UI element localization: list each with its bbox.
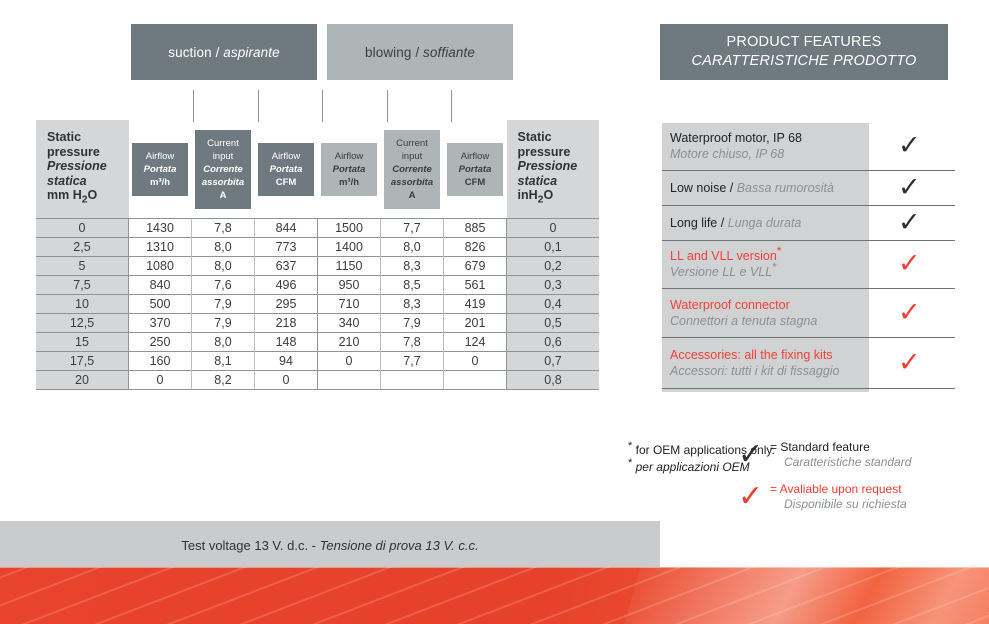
legend-oem-it: per applicazioni OEM [636,460,750,474]
table-cell-s-m3h: 0 [129,371,192,390]
hdr-line: Pressione [518,159,578,173]
col-header-suction-airflow-cfm: Airflow Portata CFM [255,120,318,219]
feature-label-it: Accessori: tutti i kit di fissaggio [670,364,840,378]
check-red-icon: ✓ [898,250,921,277]
table-cell-b-a: 7,7 [381,352,444,371]
tab-blowing-label-en: blowing / [365,45,419,60]
feature-star: * [777,244,782,258]
column-divider-tick [193,90,194,122]
table-body: 014307,884415007,788502,513108,077314008… [36,219,599,390]
check-red-icon: ✓ [898,299,921,326]
table-cell-s-cfm: 844 [255,219,318,238]
tab-suction-label: suction / aspirante [168,45,279,60]
table-cell-sp-in: 0,3 [507,276,600,295]
red-band-topline [0,567,989,568]
chip-line: Corrente [392,164,432,175]
chip-suction-airflow-cfm: Airflow Portata CFM [258,143,314,196]
table-cell-sp-in: 0,6 [507,333,600,352]
table-cell-s-m3h: 500 [129,295,192,314]
chip-line: input [213,151,234,162]
table-cell-b-m3h: 1400 [318,238,381,257]
test-voltage-text: Test voltage 13 V. d.c. - Tensione di pr… [181,538,478,553]
feature-label-en: Accessories: all the fixing kits [670,348,833,362]
col-header-blowing-current-input-a: Current input Corrente assorbita A [381,120,444,219]
table-cell-s-m3h: 160 [129,352,192,371]
table-cell-s-cfm: 148 [255,333,318,352]
table-cell-b-cfm: 124 [444,333,507,352]
table-cell-s-a: 7,8 [192,219,255,238]
hdr-line: pressure [47,145,100,159]
product-features-title-it: CARATTERISTICHE PRODOTTO [692,52,917,71]
feature-label: Long life / Lunga durata [670,215,870,231]
tab-blowing[interactable]: blowing / soffiante [327,24,513,80]
table-cell-s-a: 8,0 [192,238,255,257]
table-cell-b-cfm [444,371,507,390]
table-header-row: Static pressure Pressione statica mm H2O… [36,120,599,219]
table-cell-s-m3h: 840 [129,276,192,295]
table-cell-sp-in: 0,4 [507,295,600,314]
chip-line: input [402,151,423,162]
table-cell-b-cfm: 826 [444,238,507,257]
test-voltage-en: Test voltage 13 V. d.c. - [181,538,316,553]
table-cell-s-m3h: 1080 [129,257,192,276]
table-cell-s-cfm: 773 [255,238,318,257]
table-cell-s-m3h: 250 [129,333,192,352]
table-cell-s-cfm: 295 [255,295,318,314]
table-cell-b-m3h: 210 [318,333,381,352]
table-cell-s-a: 8,0 [192,257,255,276]
table-cell-sp-mm: 10 [36,295,129,314]
hdr-line: O [88,188,98,202]
chip-blowing-airflow-m3h: Airflow Portata m³/h [321,143,377,196]
chip-line: Current [396,138,428,149]
legend-oem-star: * [628,457,632,469]
check-black-icon: ✓ [898,209,921,236]
feature-row: Low noise / Bassa rumorosità✓ [662,171,955,206]
table-cell-b-m3h: 950 [318,276,381,295]
table-cell-s-a: 8,1 [192,352,255,371]
table-cell-sp-mm: 20 [36,371,129,390]
feature-row: LL and VLL version*Versione LL e VLL*✓ [662,241,955,289]
check-red-icon: ✓ [898,349,921,376]
table-cell-sp-in: 0,1 [507,238,600,257]
chip-line: CFM [465,177,486,188]
table-cell-s-cfm: 218 [255,314,318,333]
feature-label-en: Long life / [670,216,724,230]
table-cell-b-a: 7,8 [381,333,444,352]
table-cell-b-m3h [318,371,381,390]
col-header-static-pressure-mm: Static pressure Pressione statica mm H2O [36,120,129,219]
table-row: 12,53707,92183407,92010,5 [36,314,599,333]
chip-line: Airflow [146,151,175,162]
hdr-line: Static [47,130,81,144]
feature-label: Waterproof motor, IP 68Motore chiuso, IP… [670,130,870,162]
feature-label-it: Connettori a tenuta stagna [670,314,817,328]
table-cell-s-cfm: 94 [255,352,318,371]
table-cell-sp-mm: 12,5 [36,314,129,333]
feature-row: Waterproof connectorConnettori a tenuta … [662,289,955,338]
legend: * for OEM applications only. * per appli… [628,440,978,520]
feature-label: LL and VLL version*Versione LL e VLL* [670,248,870,280]
tab-blowing-label: blowing / soffiante [365,45,475,60]
product-features-list: Waterproof motor, IP 68Motore chiuso, IP… [662,123,955,395]
tab-suction[interactable]: suction / aspirante [131,24,317,80]
chip-line: CFM [276,177,297,188]
legend-oem-star: * [628,440,632,452]
feature-label-it: Lunga durata [728,216,802,230]
table-cell-s-m3h: 1430 [129,219,192,238]
feature-label-it: Motore chiuso, IP 68 [670,147,784,161]
table-header: Static pressure Pressione statica mm H2O… [36,120,599,219]
hdr-line: inH [518,188,538,202]
chip-line: Portata [333,164,366,175]
column-divider-tick [322,90,323,122]
feature-label-it: Versione LL e VLL [670,265,772,279]
product-features-header: PRODUCT FEATURES CARATTERISTICHE PRODOTT… [660,24,948,80]
chip-line: m³/h [150,177,170,188]
feature-label-en: Waterproof connector [670,298,790,312]
table-cell-b-cfm: 201 [444,314,507,333]
table-cell-s-a: 8,2 [192,371,255,390]
table-cell-s-a: 7,9 [192,314,255,333]
feature-row: Accessories: all the fixing kitsAccessor… [662,338,955,389]
chip-line: Current [207,138,239,149]
col-header-blowing-airflow-m3h: Airflow Portata m³/h [318,120,381,219]
chip-line: m³/h [339,177,359,188]
chip-blowing-airflow-cfm: Airflow Portata CFM [447,143,503,196]
table-cell-b-a: 8,0 [381,238,444,257]
table-cell-b-a: 8,5 [381,276,444,295]
test-voltage-bar: Test voltage 13 V. d.c. - Tensione di pr… [0,521,660,569]
performance-table: Static pressure Pressione statica mm H2O… [36,120,599,390]
hdr-line: statica [518,174,558,188]
table-cell-b-a: 7,7 [381,219,444,238]
feature-row: Long life / Lunga durata✓ [662,206,955,241]
infosheet-page: suction / aspirante blowing / soffiante … [0,0,989,624]
chip-line: Corrente [203,164,243,175]
feature-star: * [772,260,777,274]
chip-suction-current-input: Current input Corrente assorbita A [195,130,251,209]
feature-label-en: Low noise / [670,181,733,195]
feature-label-en: LL and VLL version [670,249,777,263]
chip-line: Airflow [461,151,490,162]
table-cell-s-cfm: 0 [255,371,318,390]
table-cell-b-cfm: 561 [444,276,507,295]
legend-request-it: Disponibile su richiesta [784,497,907,512]
chip-blowing-current-input: Current input Corrente assorbita A [384,130,440,209]
table-row: 152508,01482107,81240,6 [36,333,599,352]
table-cell-b-m3h: 0 [318,352,381,371]
col-header-suction-current-input-a: Current input Corrente assorbita A [192,120,255,219]
chip-line: Portata [144,164,177,175]
hdr-line: Static [518,130,552,144]
col-header-blowing-airflow-cfm: Airflow Portata CFM [444,120,507,219]
table-cell-sp-mm: 17,5 [36,352,129,371]
table-cell-b-a: 7,9 [381,314,444,333]
chip-line: assorbita [202,177,244,188]
table-row: 17,51608,19407,700,7 [36,352,599,371]
table-cell-s-cfm: 637 [255,257,318,276]
check-red-icon: ✓ [738,482,763,512]
table-cell-b-cfm: 679 [444,257,507,276]
col-header-static-pressure-in: Static pressure Pressione statica inH2O [507,120,600,219]
col-header-suction-airflow-m3h: Airflow Portata m³/h [129,120,192,219]
table-cell-b-cfm: 0 [444,352,507,371]
chip-line: Portata [459,164,492,175]
check-black-icon: ✓ [898,174,921,201]
chip-line: A [409,190,416,201]
table-cell-b-a: 8,3 [381,295,444,314]
hdr-line: O [543,188,553,202]
column-divider-tick [451,90,452,122]
tab-blowing-label-it: soffiante [423,45,475,60]
check-black-icon: ✓ [898,132,921,159]
product-features-title-en: PRODUCT FEATURES [727,33,882,52]
tab-suction-label-en: suction / [168,45,219,60]
table-cell-s-m3h: 1310 [129,238,192,257]
table-row: 105007,92957108,34190,4 [36,295,599,314]
hdr-line: pressure [518,145,571,159]
table-cell-sp-in: 0 [507,219,600,238]
table-row: 2008,200,8 [36,371,599,390]
chip-line: Airflow [335,151,364,162]
feature-label: Waterproof connectorConnettori a tenuta … [670,297,870,329]
table-cell-s-cfm: 496 [255,276,318,295]
feature-row: Waterproof motor, IP 68Motore chiuso, IP… [662,123,955,171]
table-cell-sp-mm: 7,5 [36,276,129,295]
table-cell-sp-in: 0,2 [507,257,600,276]
table-cell-s-m3h: 370 [129,314,192,333]
legend-standard-en: = Standard feature [770,440,870,455]
table-cell-b-m3h: 710 [318,295,381,314]
table-cell-b-cfm: 885 [444,219,507,238]
tab-suction-label-it: aspirante [223,45,279,60]
hdr-line: Pressione [47,159,107,173]
table-cell-sp-mm: 5 [36,257,129,276]
chip-line: A [220,190,227,201]
feature-label-en: Waterproof motor, IP 68 [670,131,802,145]
feature-label: Low noise / Bassa rumorosità [670,180,870,196]
table-cell-b-m3h: 340 [318,314,381,333]
table-cell-s-a: 7,6 [192,276,255,295]
check-black-icon: ✓ [738,440,763,470]
table-row: 7,58407,64969508,55610,3 [36,276,599,295]
red-band-sheen [600,567,989,624]
table-row: 2,513108,077314008,08260,1 [36,238,599,257]
table-cell-b-a [381,371,444,390]
table-cell-sp-mm: 2,5 [36,238,129,257]
table-cell-b-a: 8,3 [381,257,444,276]
table-cell-sp-mm: 0 [36,219,129,238]
brand-red-band [0,567,989,624]
chip-suction-airflow-m3h: Airflow Portata m³/h [132,143,188,196]
table-cell-b-m3h: 1150 [318,257,381,276]
legend-request-en: = Avaliable upon request [770,482,902,497]
chip-line: Portata [270,164,303,175]
test-voltage-it: Tensione di prova 13 V. c.c. [320,538,479,553]
column-divider-tick [258,90,259,122]
table-cell-s-a: 8,0 [192,333,255,352]
table-cell-sp-in: 0,5 [507,314,600,333]
feature-label: Accessories: all the fixing kitsAccessor… [670,347,870,379]
chip-line: Airflow [272,151,301,162]
table-cell-sp-in: 0,7 [507,352,600,371]
table-cell-s-a: 7,9 [192,295,255,314]
legend-standard-it: Caratteristiche standard [784,455,911,470]
table-cell-b-m3h: 1500 [318,219,381,238]
table-cell-sp-in: 0,8 [507,371,600,390]
hdr-line: statica [47,174,87,188]
table-row: 510808,063711508,36790,2 [36,257,599,276]
hdr-line: mm H [47,188,82,202]
feature-label-it: Bassa rumorosità [737,181,834,195]
table-cell-b-cfm: 419 [444,295,507,314]
table-row: 014307,884415007,78850 [36,219,599,238]
table-cell-sp-mm: 15 [36,333,129,352]
chip-line: assorbita [391,177,433,188]
column-divider-tick [387,90,388,122]
